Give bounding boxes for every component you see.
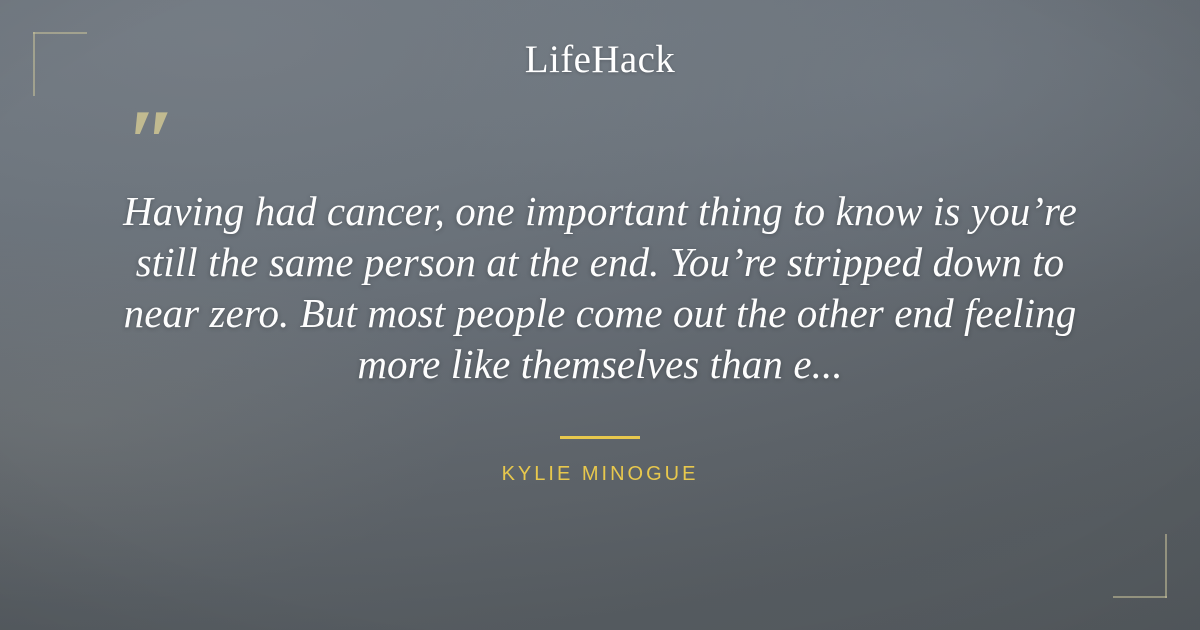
quote-text: Having had cancer, one important thing t… [96,186,1104,390]
author-divider [560,436,640,439]
lifehack-logo[interactable]: LifeHack [0,40,1200,79]
quote-block: Having had cancer, one important thing t… [96,186,1104,390]
quote-card: LifeHack ″ Having had cancer, one import… [0,0,1200,630]
open-quote-icon: ″ [126,96,177,188]
quote-author: KYLIE MINOGUE [0,463,1200,486]
divider-row [0,436,1200,439]
